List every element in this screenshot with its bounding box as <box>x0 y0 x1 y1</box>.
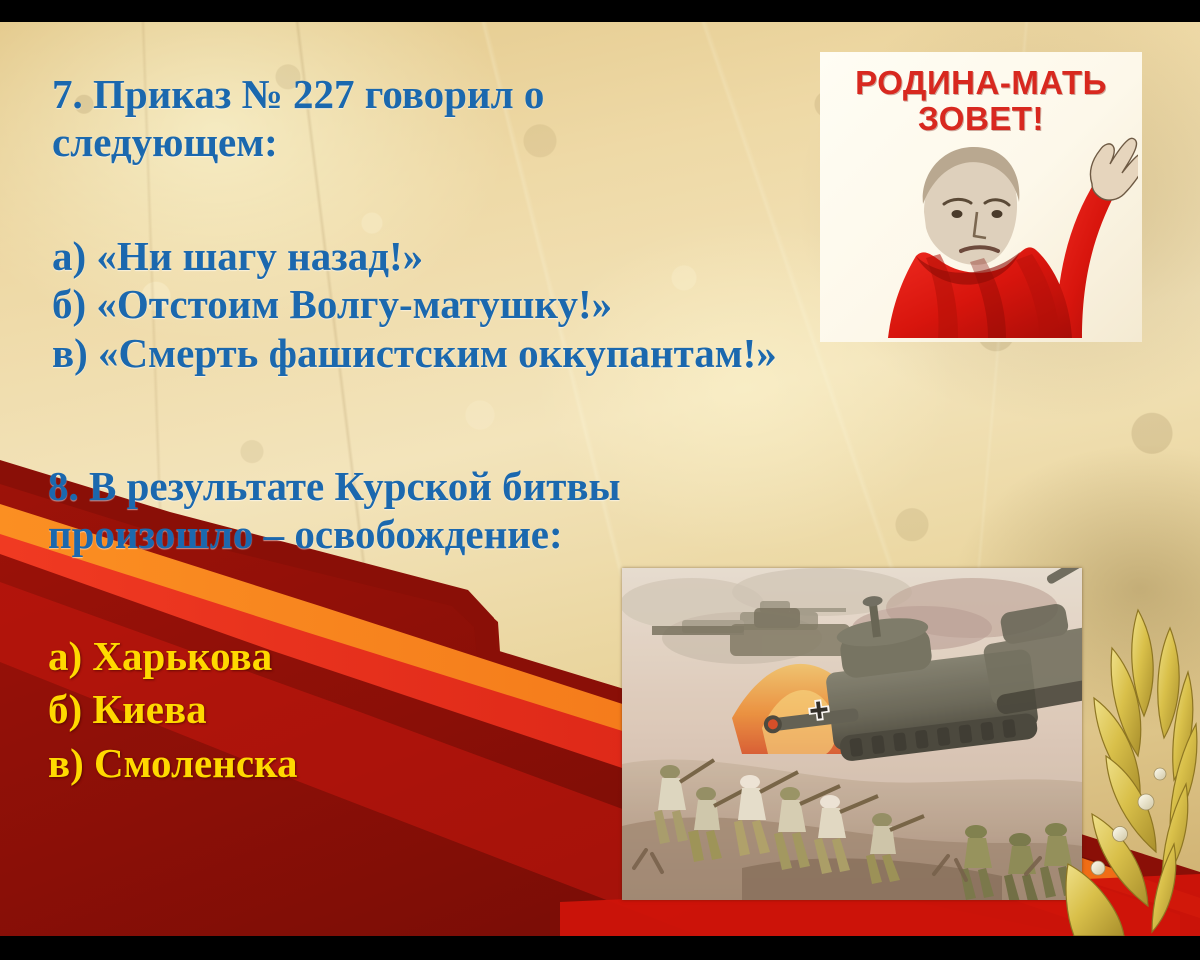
presentation-slide: РОДИНА-МАТЬ ЗОВЕТ! <box>0 0 1200 960</box>
question-7-options: а) «Ни шагу назад!» б) «Отстоим Волгу-ма… <box>52 232 1052 377</box>
question-8-block: 8. В результате Курской битвы произошло … <box>48 462 858 559</box>
poster-title-line2: ЗОВЕТ! <box>820 100 1142 138</box>
question-7-option-c[interactable]: в) «Смерть фашистским оккупантам!» <box>52 329 1052 377</box>
letterbox-bar-top <box>0 0 1200 22</box>
battle-scene-illustration <box>622 568 1082 900</box>
question-7-block: 7. Приказ № 227 говорил о следующем: <box>52 70 782 167</box>
question-7-line-1: 7. Приказ № 227 говорил о <box>52 70 782 118</box>
question-7-option-b[interactable]: б) «Отстоим Волгу-матушку!» <box>52 280 1052 328</box>
golden-laurel-branch <box>1020 606 1200 936</box>
question-8-options: а) Харькова б) Киева в) Смоленска <box>48 630 468 790</box>
poster-title-line1: РОДИНА-МАТЬ <box>820 64 1142 102</box>
question-7-line-2: следующем: <box>52 118 782 166</box>
kursk-battle-painting <box>622 568 1082 900</box>
question-7-option-a[interactable]: а) «Ни шагу назад!» <box>52 232 1052 280</box>
letterbox-bar-bottom <box>0 936 1200 960</box>
question-8-option-a[interactable]: а) Харькова <box>48 630 468 683</box>
question-8-option-b[interactable]: б) Киева <box>48 683 468 736</box>
question-8-option-c[interactable]: в) Смоленска <box>48 737 468 790</box>
question-8-line-2: произошло – освобождение: <box>48 510 858 558</box>
question-8-line-1: 8. В результате Курской битвы <box>48 462 858 510</box>
